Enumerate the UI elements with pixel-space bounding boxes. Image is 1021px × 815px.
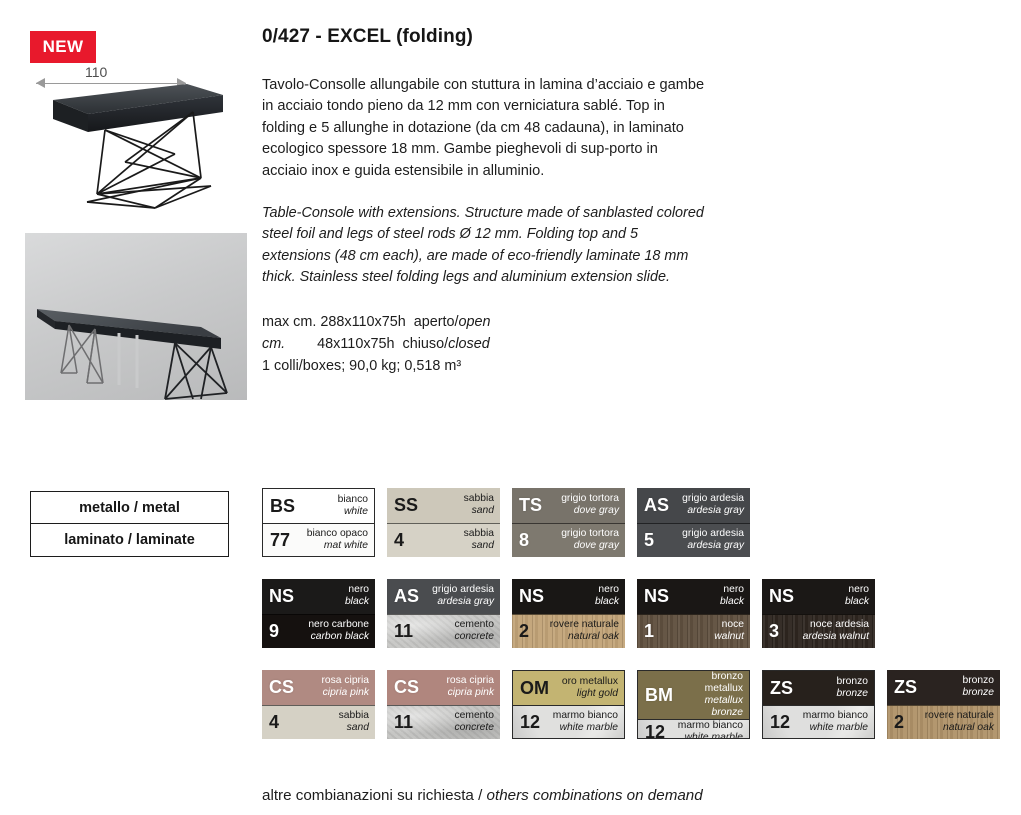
swatch-top: ZSbronzobronze (887, 670, 1000, 705)
swatch-names: rovere naturalenatural oak (925, 710, 994, 734)
color-swatch[interactable]: BSbiancowhite77bianco opacomat white (262, 488, 375, 557)
swatch-name-english: walnut (714, 631, 744, 643)
swatch-name-english: bronze (837, 688, 868, 700)
swatch-name-italian: oro metallux (562, 676, 618, 688)
swatch-top: ASgrigio ardesiaardesia gray (387, 579, 500, 614)
swatch-code: 77 (270, 531, 290, 549)
swatch-name-italian: rosa cipria (322, 675, 370, 687)
spec-closed: cm. 48x110x75h chiuso/closed (262, 333, 707, 355)
swatch-bottom: 8grigio tortoradove gray (512, 523, 625, 558)
swatch-code: 8 (519, 531, 529, 549)
swatch-name-english: black (595, 596, 619, 608)
swatch-name-english: ardesia gray (682, 505, 744, 517)
swatch-name-english: concrete (455, 631, 495, 643)
spec-packaging: 1 colli/boxes; 90,0 kg; 0,518 m³ (262, 355, 707, 377)
swatch-name-english: dove gray (561, 505, 619, 517)
swatch-code: 11 (394, 622, 413, 640)
swatch-names: neroblack (720, 584, 744, 608)
swatch-name-english: cipria pink (322, 687, 370, 699)
color-swatch[interactable]: ASgrigio ardesiaardesia gray11cementocon… (387, 579, 500, 648)
swatch-name-italian: bronzo (963, 675, 994, 687)
swatch-name-italian: grigio ardesia (432, 584, 494, 596)
swatch-names: nocewalnut (714, 619, 744, 643)
swatch-name-italian: bianco (338, 494, 368, 506)
swatch-names: rosa cipriacipria pink (322, 675, 370, 699)
color-swatch[interactable]: SSsabbiasand4sabbiasand (387, 488, 500, 557)
swatch-code: AS (394, 587, 419, 605)
swatch-name-italian: rosa cipria (447, 675, 495, 687)
swatch-code: 1 (644, 622, 654, 640)
swatch-name-english: sand (464, 505, 494, 517)
swatch-name-english: ardesia gray (682, 540, 744, 552)
swatch-bottom: 2rovere naturalenatural oak (512, 614, 625, 649)
legend-metal: metallo / metal (31, 492, 228, 524)
swatch-code: NS (644, 587, 669, 605)
swatch-bottom: 3noce ardesiaardesia walnut (762, 614, 875, 649)
spec-open: max cm. 288x110x75h aperto/open (262, 311, 707, 333)
swatch-top: BSbiancowhite (263, 489, 374, 523)
swatch-name-english: metallux bronze (673, 695, 743, 719)
swatch-bottom: 11cementoconcrete (387, 705, 500, 740)
swatch-name-english: white (338, 506, 368, 518)
swatch-bottom: 11cementoconcrete (387, 614, 500, 649)
swatch-name-italian: grigio ardesia (682, 528, 744, 540)
legend-laminate: laminato / laminate (31, 524, 228, 556)
swatch-name-italian: marmo bianco (553, 710, 618, 722)
swatch-code: CS (394, 678, 419, 696)
swatch-code: 4 (394, 531, 404, 549)
swatch-code: AS (644, 496, 669, 514)
swatch-code: 9 (269, 622, 279, 640)
swatch-bottom: 12marmo biancowhite marble (638, 719, 749, 739)
swatch-code: BM (645, 686, 673, 704)
color-swatch[interactable]: ASgrigio ardesiaardesia gray5grigio arde… (637, 488, 750, 557)
swatch-name-italian: sabbia (464, 528, 494, 540)
swatch-name-italian: marmo bianco (803, 710, 868, 722)
swatch-bottom: 4sabbiasand (387, 523, 500, 558)
swatch-names: oro metalluxlight gold (562, 676, 618, 700)
swatch-code: ZS (894, 678, 917, 696)
swatch-row: BSbiancowhite77bianco opacomat whiteSSsa… (262, 488, 1017, 557)
swatch-name-italian: sabbia (339, 710, 369, 722)
color-swatch[interactable]: TSgrigio tortoradove gray8grigio tortora… (512, 488, 625, 557)
swatch-names: sabbiasand (464, 493, 494, 517)
swatch-names: biancowhite (338, 494, 368, 518)
swatch-top: TSgrigio tortoradove gray (512, 488, 625, 523)
swatch-name-italian: cemento (455, 710, 495, 722)
swatch-name-italian: rovere naturale (550, 619, 619, 631)
swatch-top: OMoro metalluxlight gold (513, 671, 624, 705)
color-swatch[interactable]: NSneroblack1nocewalnut (637, 579, 750, 648)
swatch-names: sabbiasand (464, 528, 494, 552)
swatch-name-italian: nero carbone (308, 619, 369, 631)
color-swatch[interactable]: ZSbronzobronze12marmo biancowhite marble (762, 670, 875, 739)
swatch-bottom: 1nocewalnut (637, 614, 750, 649)
swatch-top: SSsabbiasand (387, 488, 500, 523)
swatch-name-italian: bronzo (837, 676, 868, 688)
swatch-names: grigio ardesiaardesia gray (682, 493, 744, 517)
swatch-bottom: 5grigio ardesiaardesia gray (637, 523, 750, 558)
color-swatch[interactable]: CSrosa cipriacipria pink11cementoconcret… (387, 670, 500, 739)
swatch-code: 4 (269, 713, 279, 731)
swatch-names: bianco opacomat white (307, 528, 368, 552)
swatch-bottom: 4sabbiasand (262, 705, 375, 740)
swatch-name-english: carbon black (308, 631, 369, 643)
swatch-names: nero carbonecarbon black (308, 619, 369, 643)
swatch-names: sabbiasand (339, 710, 369, 734)
material-legend: metallo / metal laminato / laminate (30, 491, 229, 557)
swatch-bottom: 2rovere naturalenatural oak (887, 705, 1000, 740)
swatch-name-italian: grigio tortora (561, 493, 619, 505)
footer-note: altre combianazioni su richiesta / other… (262, 787, 703, 804)
swatch-code: NS (519, 587, 544, 605)
swatch-names: grigio tortoradove gray (561, 493, 619, 517)
swatch-code: 2 (519, 622, 529, 640)
swatch-top: CSrosa cipriacipria pink (387, 670, 500, 705)
swatch-names: marmo biancowhite marble (678, 720, 743, 739)
swatch-code: CS (269, 678, 294, 696)
color-swatch[interactable]: CSrosa cipriacipria pink4sabbiasand (262, 670, 375, 739)
swatch-code: 12 (520, 713, 540, 731)
swatch-code: 3 (769, 622, 779, 640)
swatch-name-english: black (345, 596, 369, 608)
swatch-names: bronzobronze (837, 676, 868, 700)
swatch-names: marmo biancowhite marble (553, 710, 618, 734)
swatch-name-italian: nero (345, 584, 369, 596)
swatch-name-english: black (720, 596, 744, 608)
dimension-value: 110 (82, 64, 110, 80)
swatch-code: SS (394, 496, 418, 514)
swatch-name-italian: cemento (455, 619, 495, 631)
color-swatch[interactable]: NSneroblack9nero carbonecarbon black (262, 579, 375, 648)
swatch-top: ASgrigio ardesiaardesia gray (637, 488, 750, 523)
swatch-code: 11 (394, 713, 413, 731)
swatch-names: bronzo metalluxmetallux bronze (673, 671, 743, 719)
swatch-name-italian: noce ardesia (803, 619, 869, 631)
swatch-name-english: ardesia gray (432, 596, 494, 608)
swatch-names: grigio ardesiaardesia gray (682, 528, 744, 552)
swatch-name-italian: bronzo metallux (673, 671, 743, 695)
swatch-name-english: natural oak (925, 722, 994, 734)
swatch-code: 12 (770, 713, 790, 731)
swatch-top: NSneroblack (512, 579, 625, 614)
swatch-name-english: mat white (307, 540, 368, 552)
swatch-top: NSneroblack (262, 579, 375, 614)
page-title: 0/427 - EXCEL (folding) (262, 26, 707, 48)
specifications: max cm. 288x110x75h aperto/open cm. 48x1… (262, 311, 707, 377)
color-swatch[interactable]: OMoro metalluxlight gold12marmo biancowh… (512, 670, 625, 739)
swatch-names: cementoconcrete (455, 619, 495, 643)
swatch-bottom: 12marmo biancowhite marble (513, 705, 624, 739)
footer-italian: altre combianazioni su richiesta / (262, 787, 487, 804)
swatch-code: NS (769, 587, 794, 605)
swatch-bottom: 77bianco opacomat white (263, 523, 374, 557)
swatch-name-italian: nero (595, 584, 619, 596)
swatch-names: neroblack (845, 584, 869, 608)
swatch-top: NSneroblack (637, 579, 750, 614)
swatch-code: NS (269, 587, 294, 605)
swatch-code: TS (519, 496, 542, 514)
swatch-name-italian: nero (720, 584, 744, 596)
swatch-names: neroblack (345, 584, 369, 608)
swatch-names: neroblack (595, 584, 619, 608)
swatch-name-italian: noce (714, 619, 744, 631)
swatch-name-italian: bianco opaco (307, 528, 368, 540)
swatch-name-english: white marble (553, 722, 618, 734)
swatch-name-english: dove gray (561, 540, 619, 552)
swatch-name-english: black (845, 596, 869, 608)
new-badge: NEW (30, 31, 96, 63)
swatch-bottom: 9nero carbonecarbon black (262, 614, 375, 649)
swatch-name-english: sand (339, 722, 369, 734)
swatch-names: bronzobronze (963, 675, 994, 699)
swatch-top: CSrosa cipriacipria pink (262, 670, 375, 705)
swatch-name-italian: nero (845, 584, 869, 596)
swatch-names: cementoconcrete (455, 710, 495, 734)
swatch-name-italian: rovere naturale (925, 710, 994, 722)
swatch-code: ZS (770, 679, 793, 697)
swatch-names: rosa cipriacipria pink (447, 675, 495, 699)
catalog-page: NEW 110 (0, 0, 1021, 815)
swatch-name-italian: grigio ardesia (682, 493, 744, 505)
swatch-names: noce ardesiaardesia walnut (803, 619, 869, 643)
color-swatch[interactable]: NSneroblack2rovere naturalenatural oak (512, 579, 625, 648)
swatch-top: BMbronzo metalluxmetallux bronze (638, 671, 749, 719)
swatch-bottom: 12marmo biancowhite marble (763, 705, 874, 739)
swatch-top: ZSbronzobronze (763, 671, 874, 705)
swatch-names: grigio tortoradove gray (561, 528, 619, 552)
color-swatch-grid: BSbiancowhite77bianco opacomat whiteSSsa… (262, 488, 1017, 761)
product-image-extended (25, 233, 247, 400)
swatch-top: NSneroblack (762, 579, 875, 614)
swatch-names: grigio ardesiaardesia gray (432, 584, 494, 608)
swatch-code: 5 (644, 531, 654, 549)
product-info: 0/427 - EXCEL (folding) Tavolo-Consolle … (262, 26, 707, 377)
swatch-name-italian: grigio tortora (561, 528, 619, 540)
swatch-code: BS (270, 497, 295, 515)
color-swatch[interactable]: NSneroblack3noce ardesiaardesia walnut (762, 579, 875, 648)
swatch-name-english: natural oak (550, 631, 619, 643)
swatch-name-english: white marble (678, 732, 743, 739)
swatch-name-english: concrete (455, 722, 495, 734)
swatch-name-english: cipria pink (447, 687, 495, 699)
swatch-name-english: sand (464, 540, 494, 552)
swatch-name-english: white marble (803, 722, 868, 734)
swatch-names: rovere naturalenatural oak (550, 619, 619, 643)
swatch-name-english: ardesia walnut (803, 631, 869, 643)
color-swatch[interactable]: BMbronzo metalluxmetallux bronze12marmo … (637, 670, 750, 739)
description-italian: Tavolo-Consolle allungabile con stuttura… (262, 75, 707, 182)
description-english: Table-Console with extensions. Structure… (262, 203, 707, 288)
swatch-row: NSneroblack9nero carbonecarbon blackASgr… (262, 579, 1017, 648)
swatch-name-italian: marmo bianco (678, 720, 743, 732)
swatch-code: 2 (894, 713, 904, 731)
swatch-name-italian: sabbia (464, 493, 494, 505)
swatch-name-english: bronze (963, 687, 994, 699)
swatch-names: marmo biancowhite marble (803, 710, 868, 734)
swatch-code: 12 (645, 723, 665, 739)
footer-english: others combinations on demand (487, 787, 703, 804)
swatch-row: CSrosa cipriacipria pink4sabbiasandCSros… (262, 670, 1017, 739)
swatch-code: OM (520, 679, 549, 697)
swatch-name-english: light gold (562, 688, 618, 700)
product-image-console (25, 62, 247, 210)
color-swatch[interactable]: ZSbronzobronze2rovere naturalenatural oa… (887, 670, 1000, 739)
